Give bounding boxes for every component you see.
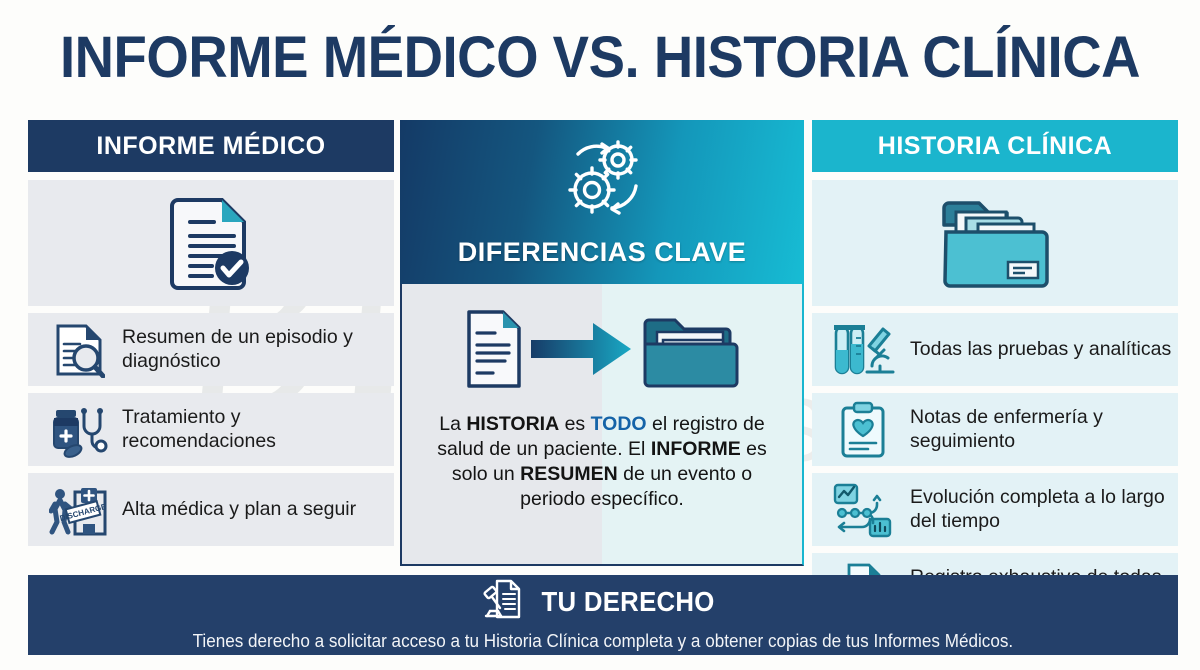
list-item-label: Todas las pruebas y analíticas [900,338,1171,361]
document-icon [463,308,525,395]
center-body: La HISTORIA es TODO el registro de salud… [400,284,804,566]
document-magnifier-icon [42,322,116,378]
gavel-document-icon [483,578,525,625]
gears-cycle-icon [548,134,656,231]
left-column: INFORME MÉDICO [28,120,394,553]
center-illustration [402,284,802,412]
left-list: Resumen de un episodio y diagnóstico [28,313,394,546]
folder-open-icon [639,306,741,397]
medicine-stethoscope-icon [42,402,116,458]
center-description: La HISTORIA es TODO el registro de salud… [426,412,778,512]
list-item: Evolución completa a lo largo del tiempo [812,473,1178,546]
left-column-header: INFORME MÉDICO [28,120,394,172]
page-title: INFORME MÉDICO VS. HISTORIA CLÍNICA [36,24,1164,91]
test-tubes-microscope-icon [826,322,900,378]
folder-files-icon [936,188,1054,299]
center-title: DIFERENCIAS CLAVE [458,237,747,268]
clipboard-heart-icon [826,401,900,459]
list-item: Resumen de un episodio y diagnóstico [28,313,394,386]
list-item: Notas de enfermería y seguimiento [812,393,1178,466]
document-check-icon [168,192,254,295]
banner-title: TU DERECHO [542,586,715,618]
banner-subtitle: Tienes derecho a solicitar acceso a tu H… [193,631,1014,652]
list-item: Tratamiento y recomendaciones [28,393,394,466]
right-hero [812,180,1178,306]
rights-banner: TU DERECHO Tienes derecho a solicitar ac… [28,575,1178,655]
list-item: Todas las pruebas y analíticas [812,313,1178,386]
right-column: HISTORIA CLÍNICA [812,120,1178,633]
left-hero [28,180,394,306]
banner-heading: TU DERECHO [483,578,722,625]
list-item-label: Notas de enfermería y seguimiento [900,406,1178,453]
center-panel: DIFERENCIAS CLAVE [400,120,804,566]
list-item-label: Evolución completa a lo largo del tiempo [900,486,1178,533]
arrow-right-icon [529,314,635,389]
right-column-header: HISTORIA CLÍNICA [812,120,1178,172]
infographic-page: Bleu ABOGADOS INFORME MÉDICO VS. HISTORI… [0,0,1200,670]
center-header: DIFERENCIAS CLAVE [400,120,804,284]
hospital-discharge-icon: DISCHARGE [42,482,116,538]
list-item: DISCHARGE Alta médica y plan a seguir [28,473,394,546]
timeline-chart-icon [826,481,900,539]
list-item-label: Resumen de un episodio y diagnóstico [116,326,394,373]
list-item-label: Tratamiento y recomendaciones [116,406,394,453]
list-item-label: Alta médica y plan a seguir [116,498,356,521]
